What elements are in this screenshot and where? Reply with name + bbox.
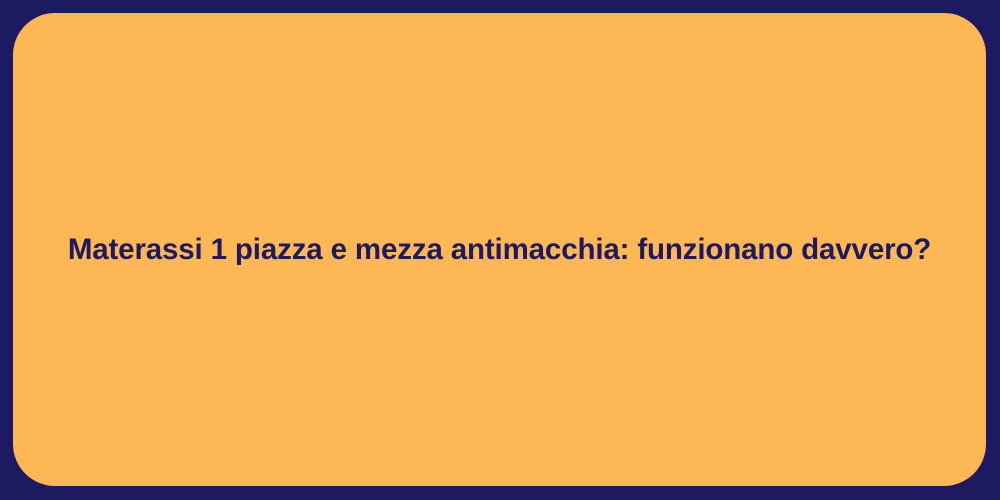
headline-panel: Materassi 1 piazza e mezza antimacchia: … [13, 13, 986, 486]
article-title-card: Materassi 1 piazza e mezza antimacchia: … [0, 0, 1000, 500]
headline-text: Materassi 1 piazza e mezza antimacchia: … [41, 233, 958, 268]
